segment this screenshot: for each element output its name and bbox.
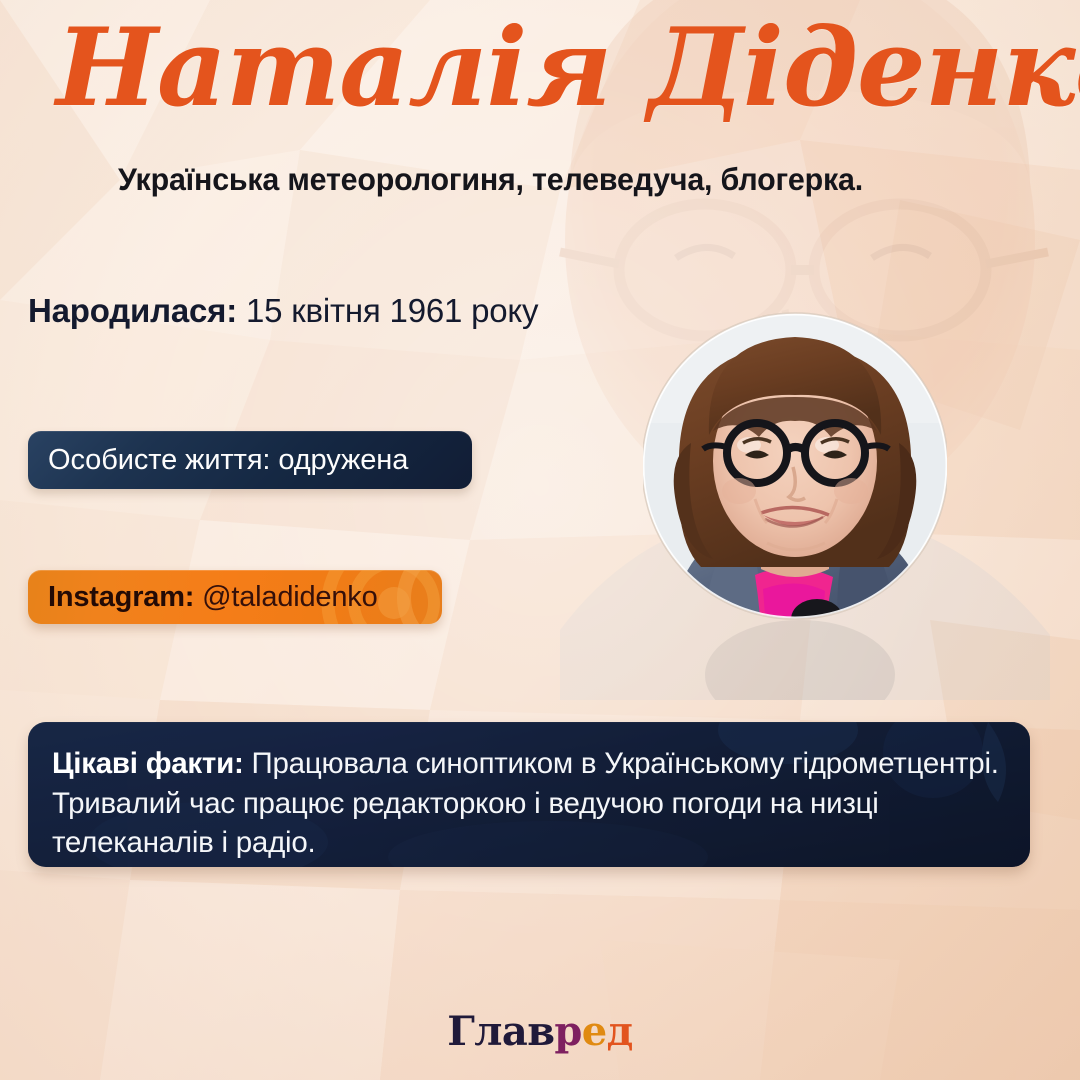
facts-box: Цікаві факти: Працювала синоптиком в Укр… — [28, 722, 1030, 867]
instagram-text: Instagram: @taladidenko — [28, 581, 378, 614]
birth-line: Народилася: 15 квітня 1961 року — [28, 292, 538, 330]
site-logo[interactable]: Главред — [0, 1008, 1080, 1055]
facts-text: Цікаві факти: Працювала синоптиком в Укр… — [28, 722, 1030, 863]
facts-label: Цікаві факти: — [52, 747, 244, 780]
logo-part-d: д — [607, 1008, 633, 1055]
birth-value: 15 квітня 1961 року — [246, 292, 538, 329]
instagram-pill[interactable]: Instagram: @taladidenko — [28, 570, 442, 624]
logo-part-e: е — [582, 1008, 607, 1055]
birth-label: Народилася: — [28, 292, 237, 329]
page-title: Наталія Діденко — [56, 8, 1046, 129]
portrait-photo — [643, 303, 947, 629]
instagram-label: Instagram: — [48, 581, 194, 613]
personal-life-pill: Особисте життя: одружена — [28, 431, 472, 489]
biography-card: Наталія Діденко Українська метеорологиня… — [0, 0, 1080, 1080]
personal-life-text: Особисте життя: одружена — [28, 444, 408, 477]
logo-part-glav: Глав — [447, 1008, 554, 1055]
page-subtitle: Українська метеорологиня, телеведуча, бл… — [118, 161, 863, 198]
logo-part-r: р — [554, 1008, 581, 1055]
instagram-handle[interactable]: @taladidenko — [202, 581, 377, 613]
